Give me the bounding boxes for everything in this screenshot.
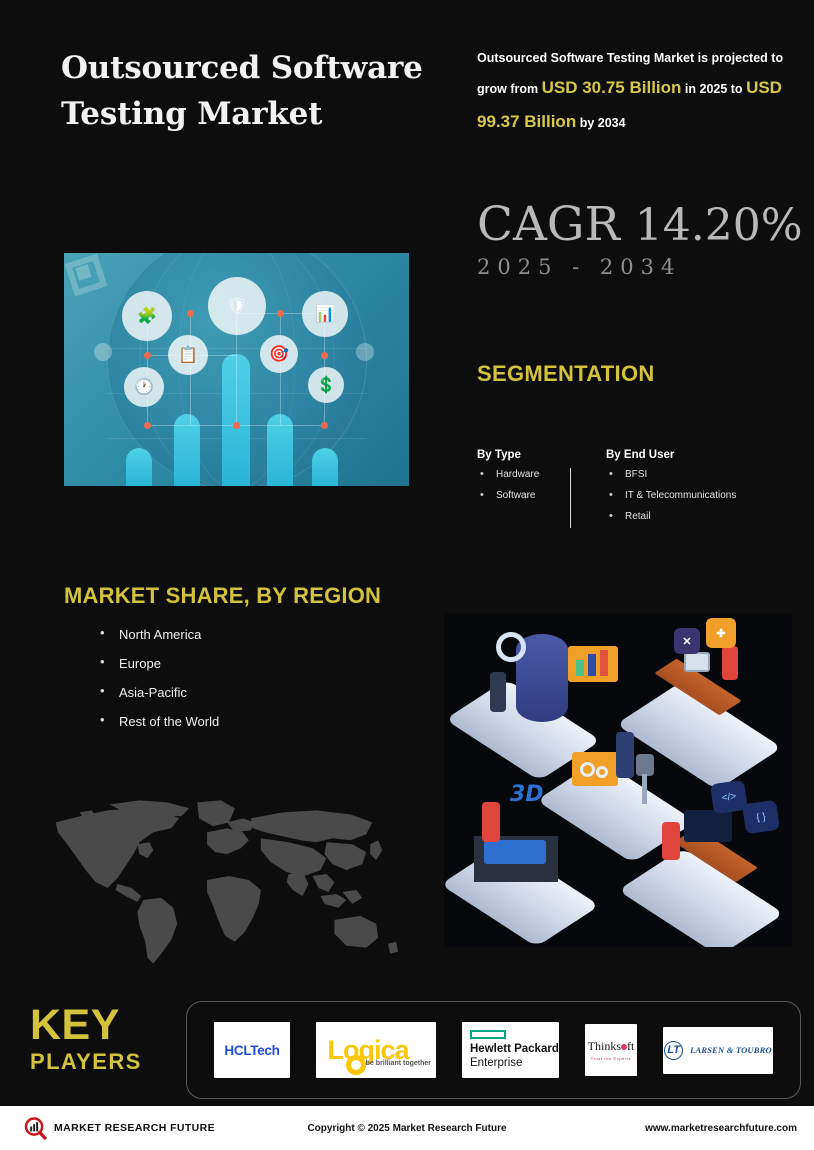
- list-item: Rest of the World: [100, 714, 219, 729]
- key-shaft-icon: [642, 774, 647, 804]
- segmentation-group-title: By End User: [606, 449, 736, 461]
- 3d-label: 3D: [510, 782, 544, 807]
- platform-coder: [618, 848, 784, 947]
- magnifier-icon: [496, 632, 526, 662]
- clock-icon: 🕐: [124, 367, 164, 407]
- logo-logica-tagline: be brilliant together: [366, 1060, 431, 1067]
- code-monitor: [684, 810, 732, 842]
- segmentation-heading: SEGMENTATION: [477, 361, 655, 387]
- junction-dot: [321, 352, 328, 359]
- dollar-icon: 💲: [308, 367, 344, 403]
- key-players-line1: KEY: [30, 1001, 120, 1049]
- segmentation-group-list: BFSI IT & Telecommunications Retail: [606, 470, 736, 522]
- script-badge-icon: { }: [742, 800, 780, 834]
- junction-dot: [144, 352, 151, 359]
- logo-thinksoft-tagline: Trust the Experts: [591, 1056, 632, 1061]
- list-item: Europe: [100, 656, 219, 671]
- segmentation-group-by-type: By Type Hardware Software: [477, 449, 584, 533]
- key-players-logo-panel: HCLTech Logica be brilliant together Hew…: [186, 1001, 801, 1099]
- cagr-period: 2025 - 2034: [477, 255, 807, 279]
- bar-green: [576, 660, 584, 676]
- projection-part3: by 2034: [580, 116, 626, 130]
- gear-icon: [596, 766, 608, 778]
- bar-blue: [588, 654, 596, 676]
- list-item: Software: [477, 491, 584, 501]
- puzzle-icon: 🧩: [122, 291, 172, 341]
- clipboard-clock-icon: 📋: [168, 335, 208, 375]
- person-coder: [662, 822, 680, 860]
- segmentation-columns: By Type Hardware Software By End User BF…: [477, 449, 807, 533]
- logo-larsen-toubro[interactable]: LT LARSEN & TOUBRO: [663, 1027, 773, 1074]
- cagr-headline: CAGR 14.20%: [477, 200, 807, 249]
- isometric-illustration: ✕ ✚ 3D </> { }: [444, 614, 792, 947]
- 3d-blocks: [484, 840, 546, 864]
- badge-tools-icon: ✕: [674, 628, 700, 654]
- logo-logica[interactable]: Logica be brilliant together: [316, 1022, 436, 1078]
- footer-copyright: Copyright © 2025 Market Research Future: [307, 1123, 506, 1134]
- bar-5: [312, 448, 338, 486]
- list-item: Retail: [606, 512, 736, 522]
- key-icon: [636, 754, 654, 776]
- footer-url[interactable]: www.marketresearchfuture.com: [645, 1123, 797, 1134]
- gear-icon: [580, 762, 595, 777]
- cagr-value: 14.20%: [635, 200, 803, 251]
- list-item: BFSI: [606, 470, 736, 480]
- logo-hcltech-text: HCLTech: [224, 1043, 279, 1058]
- person-vr-user: [482, 802, 500, 842]
- analytics-illustration: 🧩 📋 🕐 🛡 🎯 📊 💲: [64, 253, 409, 486]
- junction-dot: [321, 422, 328, 429]
- logo-thinksoft-text: Thinksft: [588, 1039, 635, 1054]
- thinksoft-dot-icon: [621, 1044, 627, 1050]
- logo-thinksoft[interactable]: Thinksft Trust the Experts: [585, 1024, 637, 1076]
- logo-hcltech[interactable]: HCLTech: [214, 1022, 290, 1078]
- logo-logica-ring-icon: [346, 1055, 366, 1075]
- list-item: IT & Telecommunications: [606, 491, 736, 501]
- logo-thinksoft-text-a: Thinks: [588, 1039, 621, 1053]
- logo-hpe-line2: Enterprise: [470, 1057, 522, 1070]
- key-players-heading: KEY PLAYERS: [30, 1005, 142, 1073]
- lt-monogram-icon: LT: [664, 1041, 683, 1060]
- world-map: [22, 792, 420, 978]
- bar-red: [600, 650, 608, 676]
- logo-larsen-toubro-text: LARSEN & TOUBRO: [690, 1045, 772, 1055]
- cagr-block: CAGR 14.20% 2025 - 2034: [477, 200, 807, 279]
- market-projection-text: Outsourced Software Testing Market is pr…: [477, 46, 802, 139]
- junction-dot: [233, 422, 240, 429]
- list-item: Asia-Pacific: [100, 685, 219, 700]
- market-share-heading: MARKET SHARE, BY REGION: [64, 583, 381, 609]
- key-players-line2: PLAYERS: [30, 1052, 142, 1073]
- target-icon: 🎯: [260, 335, 298, 373]
- hpe-bar-icon: [470, 1030, 506, 1039]
- analytics-icon: 📊: [302, 291, 348, 337]
- cagr-label: CAGR: [477, 197, 620, 252]
- badge-plus-icon: ✚: [706, 618, 736, 648]
- segmentation-group-title: By Type: [477, 449, 584, 461]
- region-list: North America Europe Asia-Pacific Rest o…: [100, 627, 219, 743]
- junction-dot: [277, 310, 284, 317]
- segmentation-group-by-end-user: By End User BFSI IT & Telecommunications…: [584, 449, 736, 533]
- segmentation-group-list: Hardware Software: [477, 470, 584, 501]
- logo-hewlett-packard-enterprise[interactable]: Hewlett Packard Enterprise: [462, 1022, 559, 1078]
- person-developer: [722, 646, 738, 680]
- junction-dot: [187, 310, 194, 317]
- person-manager: [616, 732, 634, 778]
- projection-part2: in 2025 to: [685, 82, 743, 96]
- logo-thinksoft-text-b: ft: [627, 1039, 634, 1053]
- list-item: Hardware: [477, 470, 584, 480]
- decorative-circle: [356, 343, 374, 361]
- list-item: North America: [100, 627, 219, 642]
- shield-icon: 🛡: [208, 277, 266, 335]
- market-research-future-logo-icon: [24, 1117, 47, 1140]
- decorative-circle: [94, 343, 112, 361]
- projection-value-start: USD 30.75 Billion: [542, 78, 682, 97]
- person-analyst: [490, 672, 506, 712]
- junction-dot: [144, 422, 151, 429]
- footer: MARKET RESEARCH FUTURE Copyright © 2025 …: [0, 1106, 814, 1150]
- logo-hpe-line1: Hewlett Packard: [470, 1043, 559, 1056]
- page-title: Outsourced Software Testing Market: [61, 46, 441, 137]
- settings-screen: [572, 752, 618, 786]
- footer-brand-name: MARKET RESEARCH FUTURE: [54, 1122, 215, 1134]
- monitor: [684, 652, 710, 672]
- segmentation-divider: [570, 468, 571, 528]
- bar-1: [126, 448, 152, 486]
- footer-brand: MARKET RESEARCH FUTURE: [24, 1117, 215, 1140]
